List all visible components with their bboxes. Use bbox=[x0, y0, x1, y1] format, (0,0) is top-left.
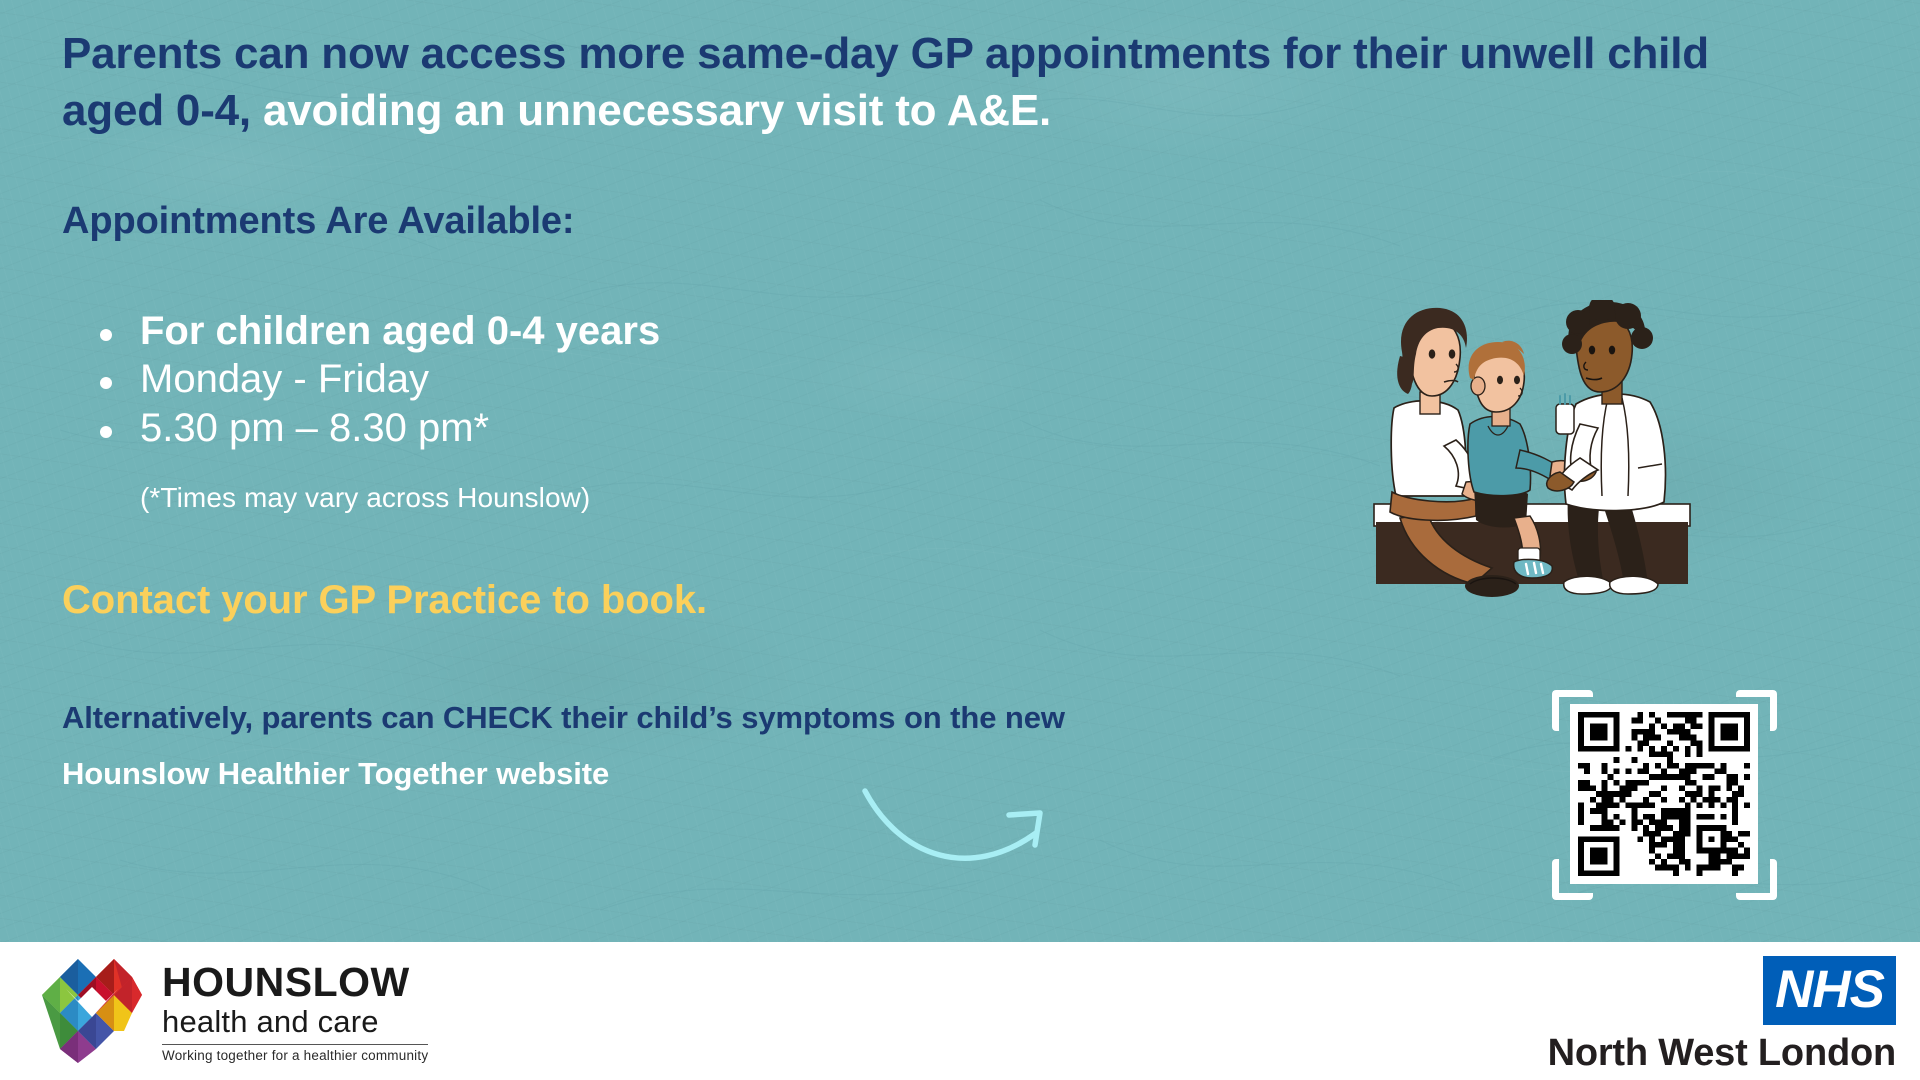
hounslow-logo-divider bbox=[162, 1044, 428, 1045]
nhs-region-label: North West London bbox=[1548, 1034, 1896, 1072]
poster-content: Parents can now access more same-day GP … bbox=[0, 0, 1920, 942]
nhs-wordmark: NHS bbox=[1763, 956, 1896, 1025]
list-item-label: For children aged 0-4 years bbox=[140, 309, 660, 353]
page-title: Parents can now access more same-day GP … bbox=[62, 26, 1822, 140]
hounslow-heart-icon bbox=[38, 959, 146, 1063]
alternative-line-2: Hounslow Healthier Together website bbox=[62, 756, 609, 792]
alternative-line-1: Alternatively, parents can CHECK their c… bbox=[62, 700, 1065, 736]
footer-bar: HOUNSLOW health and care Working togethe… bbox=[0, 942, 1920, 1080]
availability-list: For children aged 0-4 years Monday - Fri… bbox=[96, 308, 660, 453]
list-item: 5.30 pm – 8.30 pm* bbox=[96, 405, 660, 451]
times-footnote: (*Times may vary across Hounslow) bbox=[140, 482, 590, 514]
poster-canvas: Parents can now access more same-day GP … bbox=[0, 0, 1920, 1080]
call-to-action-text: Contact your GP Practice to book. bbox=[62, 578, 707, 623]
headline-white-text: avoiding an unnecessary visit to A&E. bbox=[251, 86, 1051, 135]
hounslow-logo-subtitle: health and care bbox=[162, 1005, 428, 1039]
list-item: Monday - Friday bbox=[96, 356, 660, 402]
list-item: For children aged 0-4 years bbox=[96, 308, 660, 354]
qr-code-block[interactable] bbox=[1552, 690, 1777, 900]
hounslow-logo-text: HOUNSLOW health and care Working togethe… bbox=[162, 958, 428, 1064]
qr-code-image bbox=[1578, 712, 1750, 876]
hounslow-logo-tagline: Working together for a healthier communi… bbox=[162, 1049, 428, 1064]
nhs-north-west-london-logo: NHS North West London bbox=[1548, 956, 1896, 1072]
doctor-parent-child-illustration bbox=[1370, 300, 1700, 600]
curved-arrow-icon bbox=[860, 775, 1060, 905]
hounslow-logo-name: HOUNSLOW bbox=[162, 962, 428, 1003]
qr-code[interactable] bbox=[1570, 704, 1758, 884]
availability-heading: Appointments Are Available: bbox=[62, 200, 575, 243]
hounslow-health-and-care-logo: HOUNSLOW health and care Working togethe… bbox=[38, 958, 428, 1064]
list-item-label: Monday - Friday bbox=[140, 357, 429, 401]
list-item-label: 5.30 pm – 8.30 pm* bbox=[140, 406, 489, 450]
